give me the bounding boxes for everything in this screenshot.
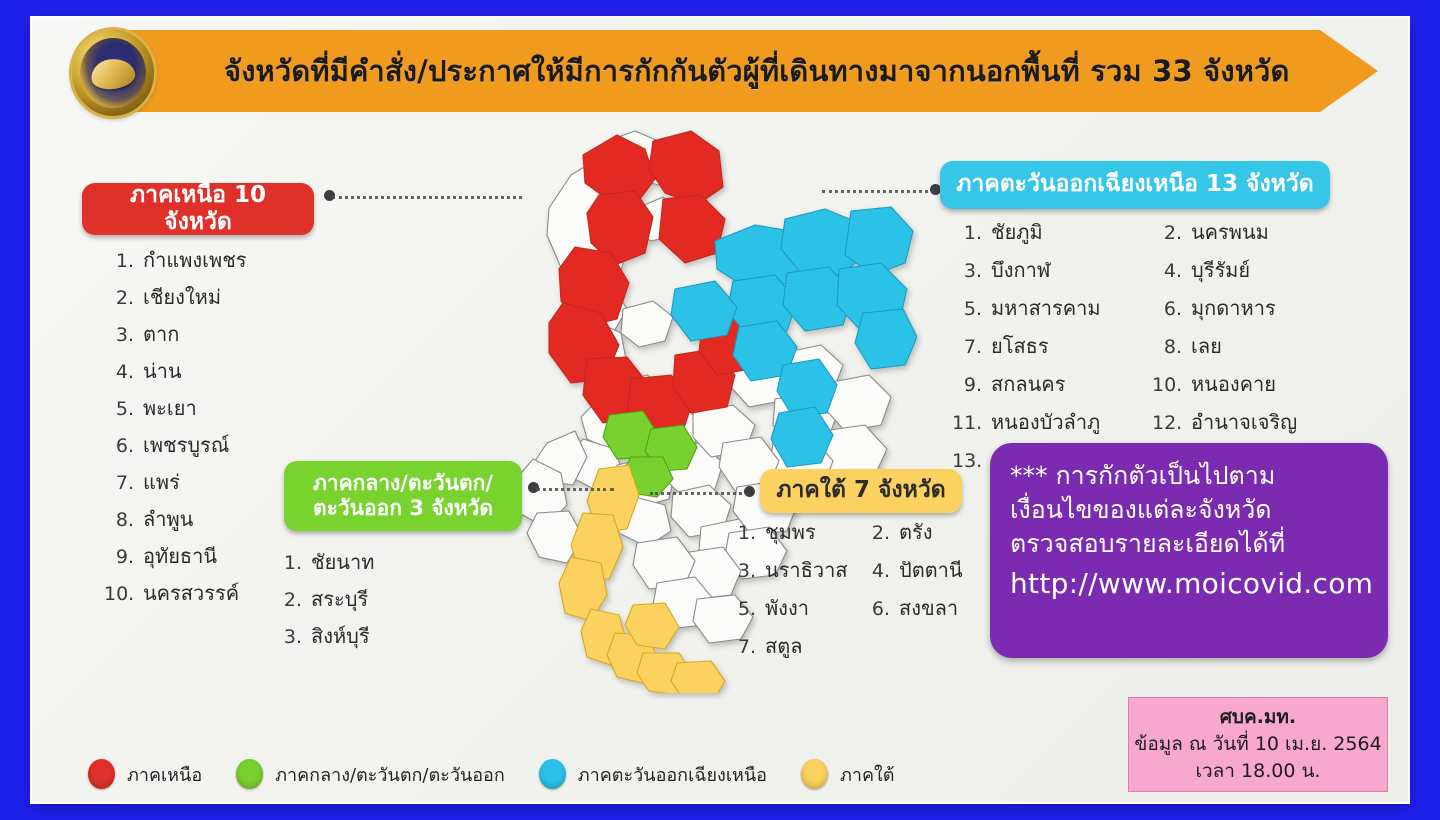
province-name: บุรีรัมย์ (1191, 254, 1250, 286)
list-item: 8.เลย (1152, 330, 1352, 362)
province-name: ตรัง (899, 516, 933, 548)
moicovid-url-link[interactable]: http://www.moicovid.com (1010, 565, 1368, 603)
province-name: แพร่ (143, 466, 180, 498)
leader-line-northeast (822, 190, 934, 193)
province-name: ชัยภูมิ (991, 216, 1043, 248)
list-number: 3. (104, 324, 134, 346)
list-number: 8. (104, 509, 134, 531)
list-item: 2.เชียงใหม่ (104, 281, 354, 313)
list-number: 1. (952, 222, 982, 244)
list-item: 2.นครพนม (1152, 216, 1352, 248)
list-item: 5.มหาสารคาม (952, 292, 1152, 324)
list-item: 1.ชัยนาท (276, 546, 526, 578)
list-number: 11. (952, 412, 982, 434)
note-line-2: เงื่อนไขของแต่ละจังหวัด (1010, 493, 1368, 527)
list-item: 7.สตูล (732, 630, 866, 662)
list-item: 4.น่าน (104, 355, 354, 387)
province-name: ปัตตานี (899, 554, 963, 586)
province-name: เชียงใหม่ (143, 281, 221, 313)
list-number: 5. (732, 598, 756, 620)
badge-central-line1: ภาคกลาง/ตะวันตก/ (313, 471, 493, 496)
province-name: อำนาจเจริญ (1191, 406, 1297, 438)
list-number: 1. (732, 522, 756, 544)
infographic-poster: จังหวัดที่มีคำสั่ง/ประกาศให้มีการกักกันต… (32, 18, 1408, 802)
province-list-south: 1.ชุมพร 2.ตรัง 3.นราธิวาส 4.ปัตตานี 5.พั… (732, 516, 1000, 668)
province-name: เลย (1191, 330, 1222, 362)
badge-northeast[interactable]: ภาคตะวันออกเฉียงเหนือ 13 จังหวัด (940, 161, 1330, 209)
legend-label: ภาคกลาง/ตะวันตก/ตะวันออก (275, 760, 505, 789)
list-item: 1.ชุมพร (732, 516, 866, 548)
list-number: 12. (1152, 412, 1182, 434)
list-number: 9. (104, 546, 134, 568)
emblem-inner (80, 38, 146, 108)
list-number: 3. (952, 260, 982, 282)
list-number: 2. (866, 522, 890, 544)
list-item: 6.เพชรบูรณ์ (104, 429, 354, 461)
source-agency: ศบค.มท. (1220, 704, 1296, 731)
note-line-1: *** การกักตัวเป็นไปตาม (1010, 459, 1368, 493)
list-number: 7. (952, 336, 982, 358)
list-item: 5.พะเยา (104, 392, 354, 424)
province-name: สงขลา (899, 592, 958, 624)
list-number: 10. (104, 583, 134, 605)
legend-label: ภาคใต้ (840, 760, 895, 789)
list-number: 4. (104, 361, 134, 383)
leader-line-north (332, 196, 522, 199)
list-number: 6. (104, 435, 134, 457)
list-number: 6. (866, 598, 890, 620)
province-name: สระบุรี (311, 583, 368, 615)
province-name: อุทัยธานี (143, 540, 217, 572)
list-number: 3. (276, 626, 302, 648)
list-item: 2.สระบุรี (276, 583, 526, 615)
list-item: 4.บุรีรัมย์ (1152, 254, 1352, 286)
list-number: 4. (1152, 260, 1182, 282)
list-number: 3. (732, 560, 756, 582)
header-banner: จังหวัดที่มีคำสั่ง/ประกาศให้มีการกักกันต… (112, 30, 1378, 112)
province-name: เพชรบูรณ์ (143, 429, 229, 461)
list-item: 6.สงขลา (866, 592, 1000, 624)
source-time: เวลา 18.00 น. (1196, 758, 1321, 785)
list-item: 1.ชัยภูมิ (952, 216, 1152, 248)
list-number: 2. (104, 287, 134, 309)
province-name: ตาก (143, 318, 179, 350)
legend-color-swatch-south (801, 759, 828, 789)
page-title: จังหวัดที่มีคำสั่ง/ประกาศให้มีการกักกันต… (224, 48, 1290, 94)
list-item: 3.ตาก (104, 318, 354, 350)
legend: ภาคเหนือ ภาคกลาง/ตะวันตก/ตะวันออก ภาคตะว… (88, 746, 1048, 802)
legend-color-swatch-central (236, 759, 263, 789)
legend-item-north: ภาคเหนือ (88, 759, 202, 789)
list-item: 5.พังงา (732, 592, 866, 624)
list-number: 2. (1152, 222, 1182, 244)
province-name: นครสวรรค์ (143, 577, 239, 609)
province-name: ชุมพร (765, 516, 816, 548)
list-number: 4. (866, 560, 890, 582)
province-name: ลำพูน (143, 503, 193, 535)
legend-label: ภาคเหนือ (127, 760, 202, 789)
list-item: 9.สกลนคร (952, 368, 1152, 400)
badge-north[interactable]: ภาคเหนือ 10 จังหวัด (82, 183, 314, 235)
province-name: มหาสารคาม (991, 292, 1101, 324)
list-item: 6.มุกดาหาร (1152, 292, 1352, 324)
province-name: กำแพงเพชร (143, 244, 247, 276)
list-number: 8. (1152, 336, 1182, 358)
source-box: ศบค.มท. ข้อมูล ณ วันที่ 10 เม.ย. 2564 เว… (1128, 697, 1388, 792)
list-number: 13. (952, 450, 982, 472)
list-item: 10.หนองคาย (1152, 368, 1352, 400)
note-line-3: ตรวจสอบรายละเอียดได้ที่ (1010, 527, 1368, 561)
leader-line-central (536, 488, 614, 491)
list-item: 7.ยโสธร (952, 330, 1152, 362)
legend-color-swatch-northeast (539, 759, 566, 789)
list-number: 7. (104, 472, 134, 494)
badge-south[interactable]: ภาคใต้ 7 จังหวัด (760, 469, 962, 513)
province-name: สตูล (765, 630, 802, 662)
list-number: 1. (276, 552, 302, 574)
province-name: ยโสธร (991, 330, 1049, 362)
legend-item-south: ภาคใต้ (801, 759, 895, 789)
list-number: 2. (276, 589, 302, 611)
province-name: สิงห์บุรี (311, 620, 370, 652)
list-item: 3.นราธิวาส (732, 554, 866, 586)
list-number: 5. (952, 298, 982, 320)
source-date: ข้อมูล ณ วันที่ 10 เม.ย. 2564 (1134, 731, 1381, 758)
list-number: 10. (1152, 374, 1182, 396)
province-name: บึงกาฬ (991, 254, 1050, 286)
legend-color-swatch-north (88, 759, 115, 789)
badge-central[interactable]: ภาคกลาง/ตะวันตก/ ตะวันออก 3 จังหวัด (284, 461, 522, 531)
list-item: 1.กำแพงเพชร (104, 244, 354, 276)
province-name: นราธิวาส (765, 554, 848, 586)
province-name: หนองบัวลำภู (991, 406, 1100, 438)
legend-item-central: ภาคกลาง/ตะวันตก/ตะวันออก (236, 759, 505, 789)
legend-label: ภาคตะวันออกเฉียงเหนือ (578, 760, 767, 789)
list-item: 3.สิงห์บุรี (276, 620, 526, 652)
list-number: 7. (732, 636, 756, 658)
list-number: 1. (104, 250, 134, 272)
leader-line-south (650, 492, 748, 495)
province-name: สกลนคร (991, 368, 1065, 400)
province-name: พะเยา (143, 392, 197, 424)
province-name: หนองคาย (1191, 368, 1276, 400)
province-list-central: 1.ชัยนาท 2.สระบุรี 3.สิงห์บุรี (276, 546, 526, 657)
list-number: 5. (104, 398, 134, 420)
list-item: 4.ปัตตานี (866, 554, 1000, 586)
list-item: 11.หนองบัวลำภู (952, 406, 1152, 438)
list-item: 3.บึงกาฬ (952, 254, 1152, 286)
province-name: นครพนม (1191, 216, 1269, 248)
province-name: พังงา (765, 592, 809, 624)
singha-lion-icon (89, 56, 137, 92)
province-name: มุกดาหาร (1191, 292, 1276, 324)
province-name: ชัยนาท (311, 546, 374, 578)
province-name: น่าน (143, 355, 182, 387)
badge-central-line2: ตะวันออก 3 จังหวัด (313, 496, 493, 521)
quarantine-note-box: *** การกักตัวเป็นไปตาม เงื่อนไขของแต่ละจ… (990, 443, 1388, 658)
list-number: 6. (1152, 298, 1182, 320)
list-number: 9. (952, 374, 982, 396)
list-item: 12.อำนาจเจริญ (1152, 406, 1352, 438)
list-item: 2.ตรัง (866, 516, 1000, 548)
ministry-of-interior-emblem-icon (72, 30, 154, 116)
legend-item-northeast: ภาคตะวันออกเฉียงเหนือ (539, 759, 767, 789)
header: จังหวัดที่มีคำสั่ง/ประกาศให้มีการกักกันต… (32, 18, 1408, 126)
